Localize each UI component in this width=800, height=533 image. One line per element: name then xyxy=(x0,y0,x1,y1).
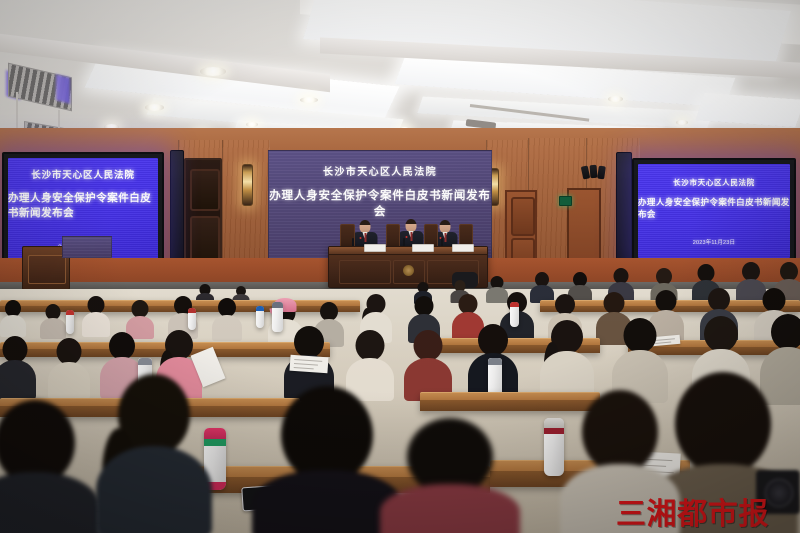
wall-sconce-light xyxy=(242,164,253,206)
panel-chair xyxy=(386,224,400,248)
recessed-downlight xyxy=(246,122,258,127)
led-screen-right: 长沙市天心区人民法院 办理人身安全保护令案件白皮书新闻发布会 2023年11月2… xyxy=(632,158,796,264)
right-screen-date: 2023年11月23日 xyxy=(693,238,735,246)
wall-speaker-column xyxy=(170,150,184,260)
publisher-watermark: 三湘都市报 xyxy=(616,500,769,530)
ceiling-light-panel xyxy=(695,93,800,127)
thermos-flask xyxy=(272,302,283,332)
left-screen-line2: 办理人身安全保护令案件白皮书新闻发布会 xyxy=(8,190,158,220)
foreground-person-left-mid xyxy=(96,374,212,533)
audience-member xyxy=(0,300,26,336)
podium-monitor xyxy=(62,236,112,258)
audience-member xyxy=(212,298,242,340)
audience-member xyxy=(40,304,66,338)
water-bottle xyxy=(66,310,74,334)
water-bottle xyxy=(188,308,196,330)
foreground-person-center-right xyxy=(380,418,520,533)
recessed-downlight xyxy=(200,67,226,76)
wall-speaker-column xyxy=(616,152,632,268)
foreground-person-left xyxy=(0,400,100,533)
name-placard xyxy=(364,244,386,252)
water-bottle xyxy=(256,306,264,328)
document-paper xyxy=(289,355,328,374)
recessed-downlight xyxy=(676,120,688,125)
backdrop-line1: 长沙市天心区人民法院 xyxy=(269,163,491,178)
audience-member xyxy=(404,330,452,400)
name-placard xyxy=(412,244,434,252)
wall-wood-panel xyxy=(222,140,270,274)
right-screen-line1: 长沙市天心区人民法院 xyxy=(673,177,755,188)
left-screen-line1: 长沙市天心区人民法院 xyxy=(31,167,135,181)
right-screen-line2: 办理人身安全保护令案件白皮书新闻发布会 xyxy=(638,196,790,220)
backdrop-line2: 办理人身安全保护令案件白皮书新闻发布会 xyxy=(269,187,491,219)
audience-member xyxy=(0,336,36,398)
recessed-downlight xyxy=(300,97,318,103)
audience-member xyxy=(82,296,110,336)
exit-sign xyxy=(559,196,572,206)
wall-speaker xyxy=(590,165,598,178)
audience-member xyxy=(48,338,90,398)
recessed-downlight xyxy=(145,104,164,111)
press-conference-photo: 长沙市天心区人民法院 办理人身安全保护令案件白皮书新闻发布会 2023年11月2… xyxy=(0,0,800,533)
door-left[interactable] xyxy=(184,158,222,274)
recessed-downlight xyxy=(608,96,623,102)
audience-member xyxy=(540,320,594,400)
name-placard xyxy=(452,244,474,252)
